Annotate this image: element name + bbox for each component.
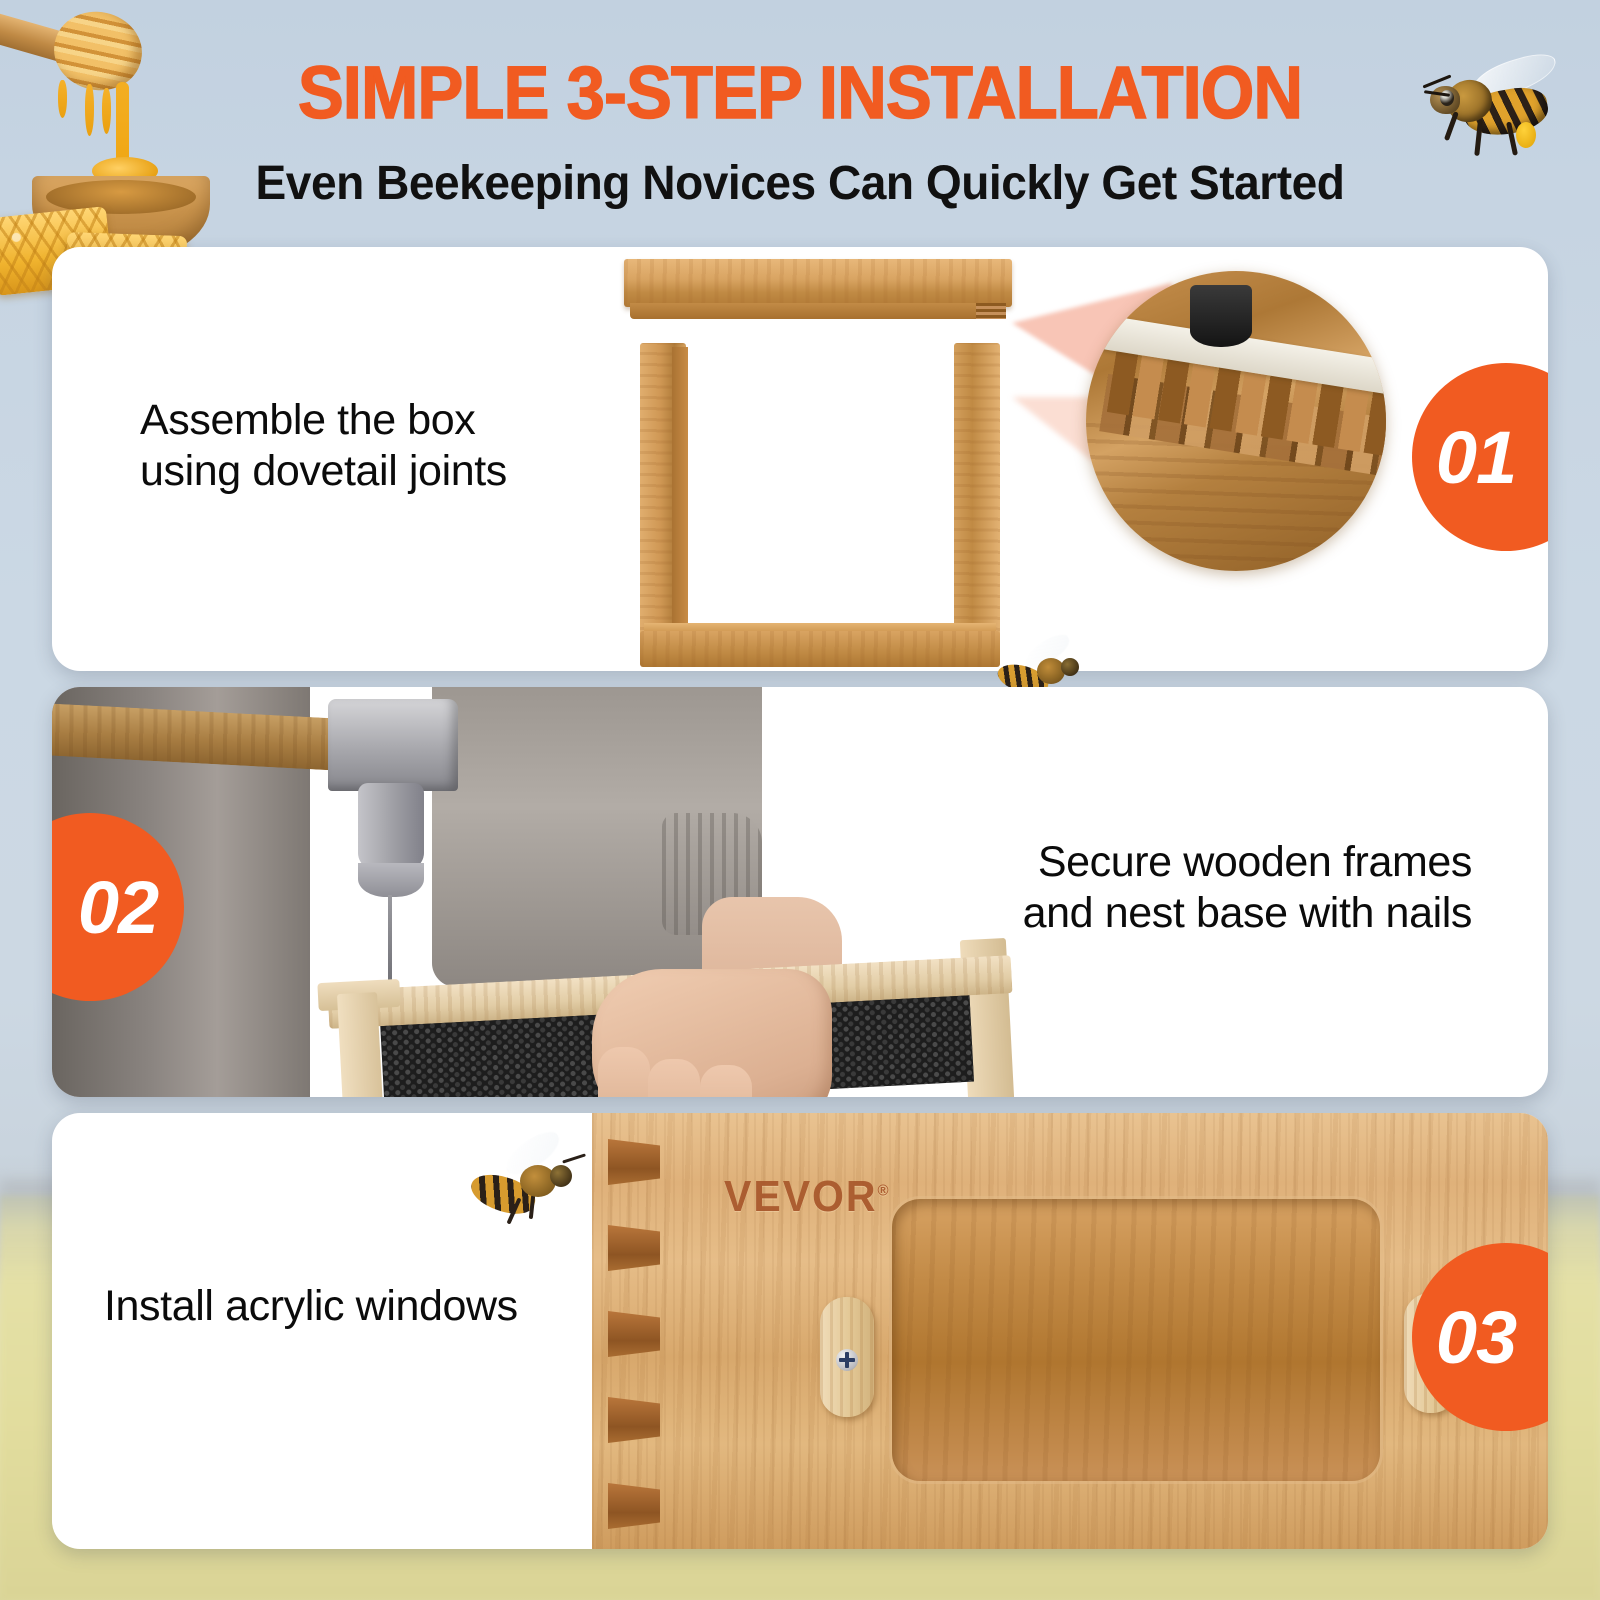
dovetail-joint-icon <box>608 1483 660 1529</box>
mallet-icon <box>1190 285 1252 347</box>
step-card-2[interactable]: Secure wooden frames and nest base with … <box>52 687 1548 1097</box>
header: SIMPLE 3-STEP INSTALLATION Even Beekeepi… <box>0 0 1600 245</box>
bee-icon <box>1428 58 1578 170</box>
hammer-neck <box>358 783 424 875</box>
hive-top-board <box>624 259 1012 307</box>
nail-icon <box>388 895 392 991</box>
hammer-head-icon <box>328 699 458 791</box>
page-title: SIMPLE 3-STEP INSTALLATION <box>56 56 1544 130</box>
honey-drip-icon <box>102 88 111 134</box>
dovetail-joint-icon <box>608 1311 660 1357</box>
hive-bottom-wall <box>640 631 1000 667</box>
dovetail-joint-icon <box>608 1397 660 1443</box>
frame-left-rail <box>337 992 383 1097</box>
dovetail-joint-icon <box>976 303 1006 319</box>
hammer-face <box>358 863 424 897</box>
honey-stream-icon <box>116 82 129 166</box>
hive-left-inner-edge <box>672 347 688 659</box>
dovetail-joint-icon <box>608 1225 660 1271</box>
bee-pollen-basket <box>1516 122 1536 148</box>
honey-drip-icon <box>85 84 94 136</box>
honey-drip-icon <box>58 80 67 118</box>
bee-icon <box>464 1135 584 1231</box>
step-3-number: 03 <box>1436 1295 1516 1380</box>
beekeeper-finger <box>648 1059 700 1097</box>
step-3-text: Install acrylic windows <box>104 1281 518 1332</box>
hive-top-edge <box>630 303 1006 319</box>
dovetail-joint-column <box>604 1129 664 1533</box>
trademark-symbol: ® <box>878 1181 891 1199</box>
page-subtitle: Even Beekeeping Novices Can Quickly Get … <box>32 160 1568 208</box>
vevor-logo: VEVOR® <box>724 1172 891 1222</box>
step-1-text: Assemble the box using dovetail joints <box>140 395 507 496</box>
bee-head <box>550 1165 572 1187</box>
vevor-logo-text: VEVOR <box>724 1172 878 1221</box>
screw-icon <box>836 1349 858 1371</box>
beekeeper-finger <box>700 1065 752 1097</box>
step-1-badge: 01 <box>1412 363 1548 551</box>
dovetail-detail-circle <box>1086 271 1386 571</box>
hive-right-wall <box>954 343 1000 663</box>
step-card-1[interactable]: Assemble the box using dovetail joints 0… <box>52 247 1548 671</box>
dovetail-joint-icon <box>608 1139 660 1185</box>
bee-leg <box>1444 111 1459 141</box>
bee-antenna <box>562 1153 586 1163</box>
step-card-3[interactable]: VEVOR® Install acrylic windows 03 <box>52 1113 1548 1549</box>
bee-head <box>1061 658 1079 676</box>
step-2-number: 02 <box>78 865 158 950</box>
step-2-text: Secure wooden frames and nest base with … <box>1023 837 1472 938</box>
beekeeper-finger <box>598 1047 650 1097</box>
step-1-number: 01 <box>1436 415 1516 500</box>
acrylic-window-recess <box>892 1199 1380 1481</box>
bee-thorax <box>1037 658 1065 684</box>
